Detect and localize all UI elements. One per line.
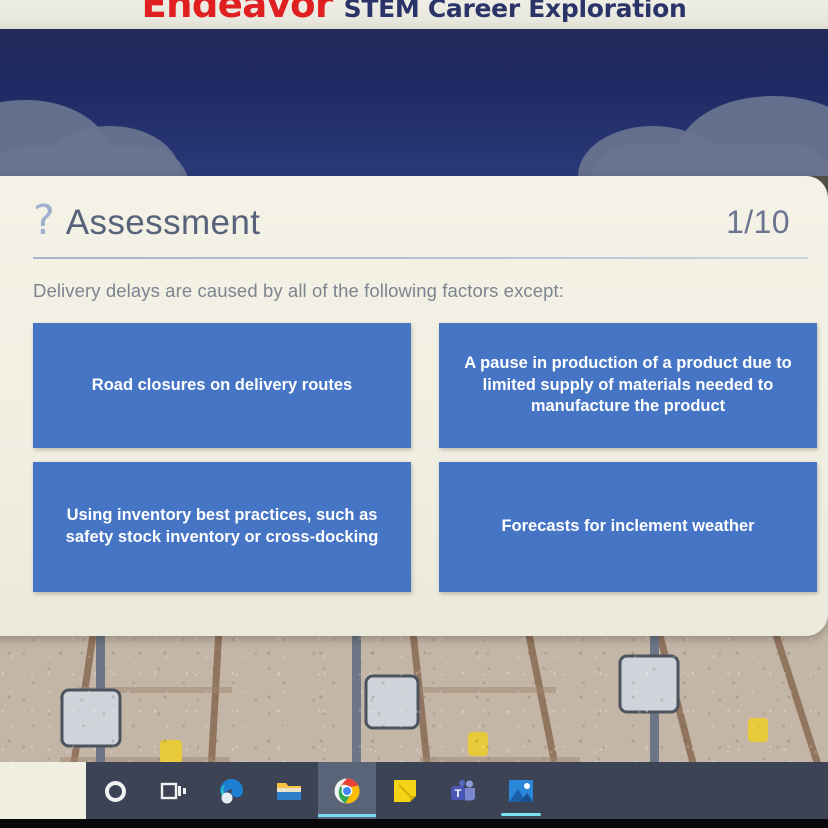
- task-view-glyph: [158, 776, 188, 806]
- answer-option-b[interactable]: A pause in production of a product due t…: [439, 323, 817, 448]
- answer-option-d-label: Forecasts for inclement weather: [501, 516, 754, 538]
- answer-option-d[interactable]: Forecasts for inclement weather: [439, 462, 817, 592]
- svg-text:T: T: [455, 788, 462, 800]
- logo-tagline-text: STEM Career Exploration: [344, 0, 687, 23]
- header-divider: [33, 257, 808, 259]
- cloud-shape: [0, 146, 190, 176]
- answer-option-a-label: Road closures on delivery routes: [92, 375, 352, 397]
- answer-option-c-label: Using inventory best practices, such as …: [49, 505, 395, 549]
- file-explorer-icon[interactable]: [260, 762, 318, 820]
- chrome-glyph: [332, 776, 362, 806]
- site-header: Endeavor STEM Career Exploration: [0, 0, 828, 29]
- answer-option-c[interactable]: Using inventory best practices, such as …: [33, 462, 411, 592]
- sky-banner: [0, 28, 828, 176]
- windows-taskbar: T: [0, 762, 828, 820]
- logo: Endeavor STEM Career Exploration: [141, 0, 686, 26]
- assessment-header: ? Assessment 1/10: [33, 202, 798, 243]
- task-view-icon[interactable]: [144, 762, 202, 820]
- question-text: Delivery delays are caused by all of the…: [33, 280, 798, 302]
- edge-icon[interactable]: [202, 762, 260, 820]
- cortana-ring-shape: [105, 781, 126, 802]
- screen-bottom-edge: [0, 819, 828, 828]
- question-counter: 1/10: [726, 204, 798, 241]
- answer-option-b-label: A pause in production of a product due t…: [455, 353, 801, 419]
- assessment-card: ? Assessment 1/10 Delivery delays are ca…: [0, 176, 828, 636]
- cortana-icon[interactable]: [86, 762, 144, 820]
- taskbar-search-box[interactable]: [0, 762, 86, 820]
- cloud-shape: [588, 144, 828, 176]
- page-title: Assessment: [66, 203, 261, 243]
- teams-icon[interactable]: T: [434, 762, 492, 820]
- photos-glyph: [506, 776, 536, 806]
- screen: Endeavor STEM Career Exploration ? Asses…: [0, 0, 828, 828]
- file-explorer-glyph: [274, 776, 304, 806]
- answer-options-grid: Road closures on delivery routes A pause…: [33, 323, 798, 592]
- sticky-notes-icon[interactable]: [376, 762, 434, 820]
- sticky-notes-glyph: [390, 776, 420, 806]
- question-mark-icon: ?: [33, 200, 55, 241]
- answer-option-a[interactable]: Road closures on delivery routes: [33, 323, 411, 448]
- logo-endeavor-text: Endeavor: [141, 0, 332, 26]
- edge-glyph: [216, 776, 246, 806]
- chrome-icon[interactable]: [318, 762, 376, 820]
- photos-icon[interactable]: [492, 762, 550, 820]
- teams-glyph: T: [448, 776, 478, 806]
